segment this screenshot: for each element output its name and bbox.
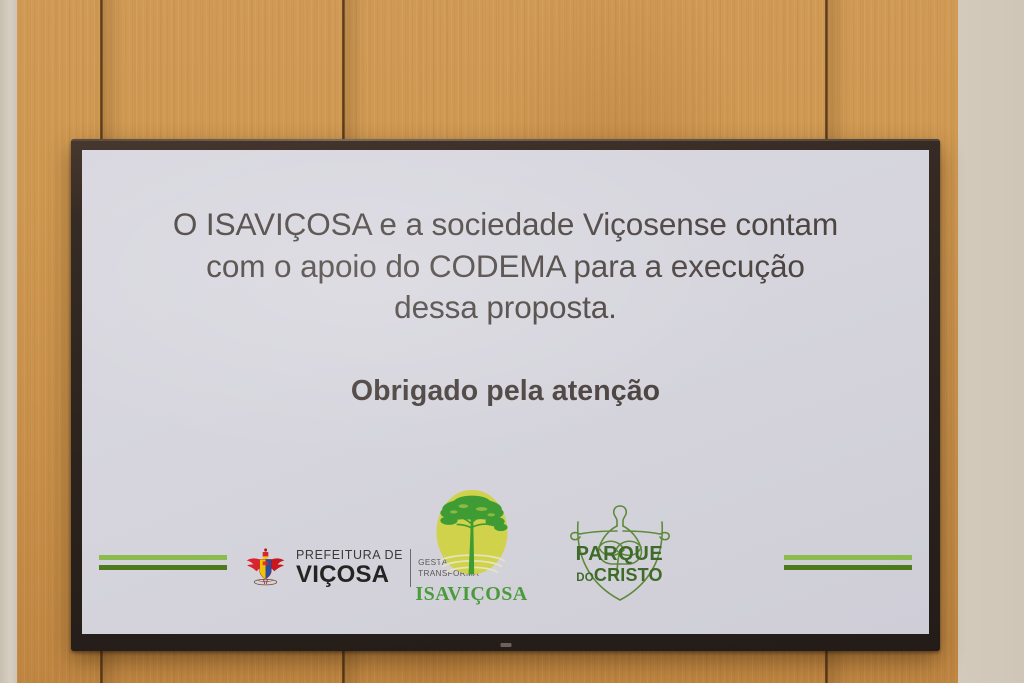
slide-footer: PREFEITURA DE VIÇOSA GESTÃO QUE TRANSFOR…	[82, 484, 929, 634]
decorative-rules-left	[99, 555, 227, 570]
parque-wordmark: PARQUE DOCRISTO	[554, 544, 686, 585]
rule-light-green	[784, 555, 912, 560]
logo-parque-do-cristo: PARQUE DOCRISTO	[554, 500, 686, 606]
rule-dark-green	[99, 565, 227, 570]
prefeitura-line-2: VIÇOSA	[296, 563, 403, 587]
slide-paragraph-line-2: com o apoio do CODEMA para a execução	[140, 246, 871, 288]
slide-paragraph-line-1: O ISAVIÇOSA e a sociedade Viçosense cont…	[140, 204, 871, 246]
rule-dark-green	[784, 565, 912, 570]
tree-disc-icon	[424, 486, 520, 582]
logo-isavicosa: ISAVIÇOSA	[412, 486, 532, 606]
parque-line-1: PARQUE	[554, 544, 686, 564]
room-scene: O ISAVIÇOSA e a sociedade Viçosense cont…	[0, 0, 1024, 683]
parque-line-2-bold: CRISTO	[594, 565, 663, 585]
isavicosa-wordmark: ISAVIÇOSA	[412, 583, 532, 606]
slide-body: O ISAVIÇOSA e a sociedade Viçosense cont…	[82, 150, 929, 408]
decorative-rules-right	[784, 555, 912, 570]
slide-closing-text: Obrigado pela atenção	[140, 375, 871, 408]
prefeitura-line-1: PREFEITURA DE	[296, 549, 403, 562]
rule-light-green	[99, 555, 227, 560]
parque-line-2: DOCRISTO	[554, 566, 686, 585]
tv-bezel: O ISAVIÇOSA e a sociedade Viçosense cont…	[71, 139, 940, 651]
slide-paragraph-line-3: dessa proposta.	[140, 287, 871, 329]
wall-left	[0, 0, 17, 683]
slide-paragraph: O ISAVIÇOSA e a sociedade Viçosense cont…	[140, 204, 871, 329]
wall-right	[958, 0, 1024, 683]
presentation-slide: O ISAVIÇOSA e a sociedade Viçosense cont…	[82, 150, 929, 634]
tv-power-indicator	[500, 643, 511, 647]
parque-line-2-small: DO	[576, 572, 594, 584]
television: O ISAVIÇOSA e a sociedade Viçosense cont…	[71, 139, 940, 651]
eagle-crest-icon	[242, 544, 289, 592]
